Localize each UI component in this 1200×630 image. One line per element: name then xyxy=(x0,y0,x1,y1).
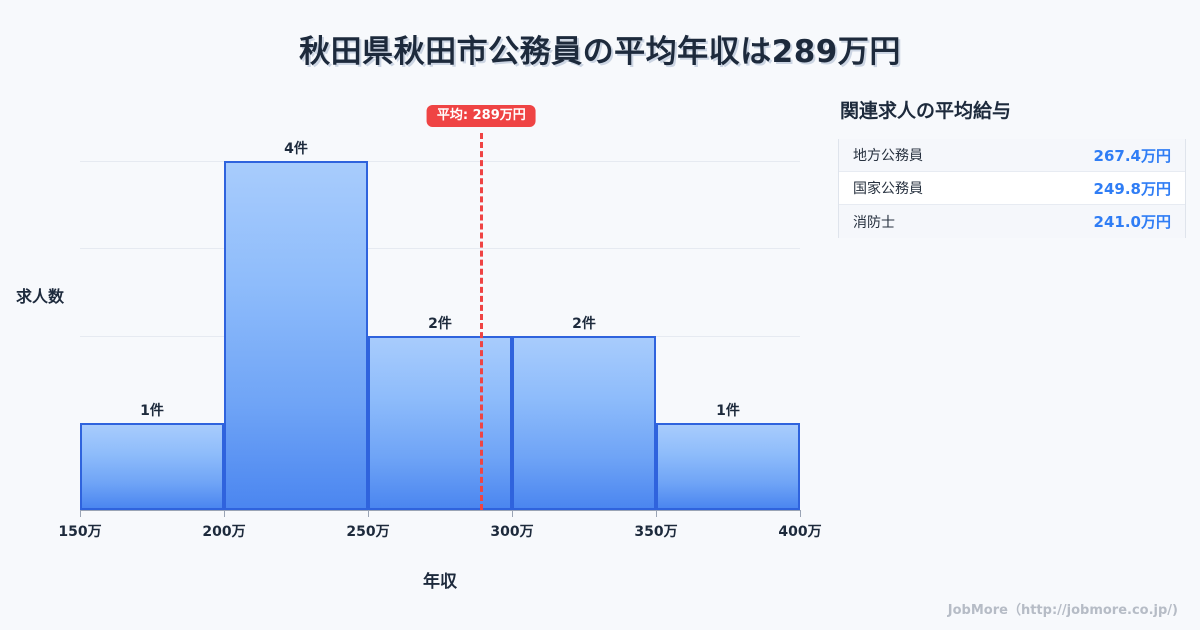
table-row-label: 地方公務員 xyxy=(853,145,923,165)
x-axis-tick-label: 200万 xyxy=(202,521,245,541)
table-row-value: 249.8万円 xyxy=(1094,178,1171,199)
average-line xyxy=(480,133,483,510)
x-axis-tick-label: 350万 xyxy=(634,521,677,541)
gridline xyxy=(80,161,800,162)
table-row-value: 241.0万円 xyxy=(1094,211,1171,232)
x-axis-tick-label: 250万 xyxy=(346,521,389,541)
x-axis-tick xyxy=(656,510,657,517)
x-axis-line xyxy=(80,510,801,511)
y-axis-title: 求人数 xyxy=(16,283,64,307)
histogram-bar xyxy=(224,161,368,510)
x-axis-tick xyxy=(224,510,225,517)
bar-value-label: 2件 xyxy=(512,313,656,333)
gridline xyxy=(80,248,800,249)
chart-page: 秋田県秋田市公務員の平均年収は289万円 1件4件2件2件1件 150万200万… xyxy=(0,0,1200,630)
bar-value-label: 4件 xyxy=(224,138,368,158)
average-badge: 平均: 289万円 xyxy=(427,105,536,127)
x-axis-tick xyxy=(512,510,513,517)
x-axis-tick-label: 150万 xyxy=(58,521,101,541)
related-salary-heading: 関連求人の平均給与 xyxy=(840,96,1186,123)
table-row: 消防士241.0万円 xyxy=(839,205,1185,238)
bar-value-label: 2件 xyxy=(368,313,512,333)
table-row-value: 267.4万円 xyxy=(1094,145,1171,166)
x-axis-tick xyxy=(800,510,801,517)
x-axis-tick xyxy=(368,510,369,517)
histogram-chart: 1件4件2件2件1件 150万200万250万300万350万400万 求人数 … xyxy=(0,0,840,630)
table-row: 地方公務員267.4万円 xyxy=(839,139,1185,172)
related-salary-panel: 関連求人の平均給与 地方公務員267.4万円国家公務員249.8万円消防士241… xyxy=(838,96,1186,238)
table-row: 国家公務員249.8万円 xyxy=(839,172,1185,205)
histogram-bar xyxy=(512,336,656,510)
related-salary-table: 地方公務員267.4万円国家公務員249.8万円消防士241.0万円 xyxy=(838,139,1186,238)
plot-area: 1件4件2件2件1件 xyxy=(80,100,800,510)
x-axis-tick-label: 300万 xyxy=(490,521,533,541)
histogram-bar xyxy=(656,423,800,510)
x-axis-tick xyxy=(80,510,81,517)
bar-value-label: 1件 xyxy=(80,400,224,420)
x-axis-tick-label: 400万 xyxy=(778,521,821,541)
table-row-label: 消防士 xyxy=(853,212,895,232)
histogram-bar xyxy=(368,336,512,510)
footer-watermark: JobMore（http://jobmore.co.jp/) xyxy=(948,599,1178,618)
histogram-bar xyxy=(80,423,224,510)
table-row-label: 国家公務員 xyxy=(853,178,923,198)
x-axis-title: 年収 xyxy=(0,567,880,592)
bar-value-label: 1件 xyxy=(656,400,800,420)
